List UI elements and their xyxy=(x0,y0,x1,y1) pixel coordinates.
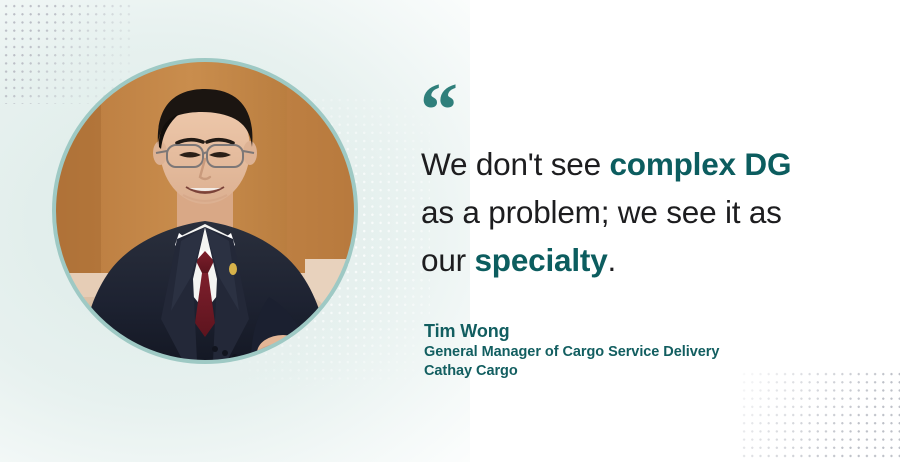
quote-text: We don't see complex DG as a problem; we… xyxy=(421,140,851,284)
portrait-ring xyxy=(52,58,358,364)
quote-line-1: We don't see complex DG xyxy=(421,146,791,182)
quote-line-2: as a problem; we see it as xyxy=(421,194,782,230)
quote-line-3-period: . xyxy=(608,242,617,278)
quote-mark-icon: “ xyxy=(420,72,456,148)
quote-line-2-plain: as a problem; we see it as xyxy=(421,194,782,230)
attribution-name: Tim Wong xyxy=(424,320,719,343)
quote-line-3-plain: our xyxy=(421,242,474,278)
quote-highlight-specialty: specialty xyxy=(474,242,607,278)
quote-line-1-plain: We don't see xyxy=(421,146,609,182)
quote-line-3: our specialty. xyxy=(421,242,616,278)
attribution-company: Cathay Cargo xyxy=(424,362,719,381)
dot-grid-bottom-right xyxy=(738,368,900,462)
quote-highlight-complex-dg: complex DG xyxy=(609,146,791,182)
portrait xyxy=(52,58,358,364)
attribution: Tim Wong General Manager of Cargo Servic… xyxy=(424,320,719,381)
testimonial-card: “ We don't see complex DG as a problem; … xyxy=(0,0,900,462)
attribution-role: General Manager of Cargo Service Deliver… xyxy=(424,343,719,362)
